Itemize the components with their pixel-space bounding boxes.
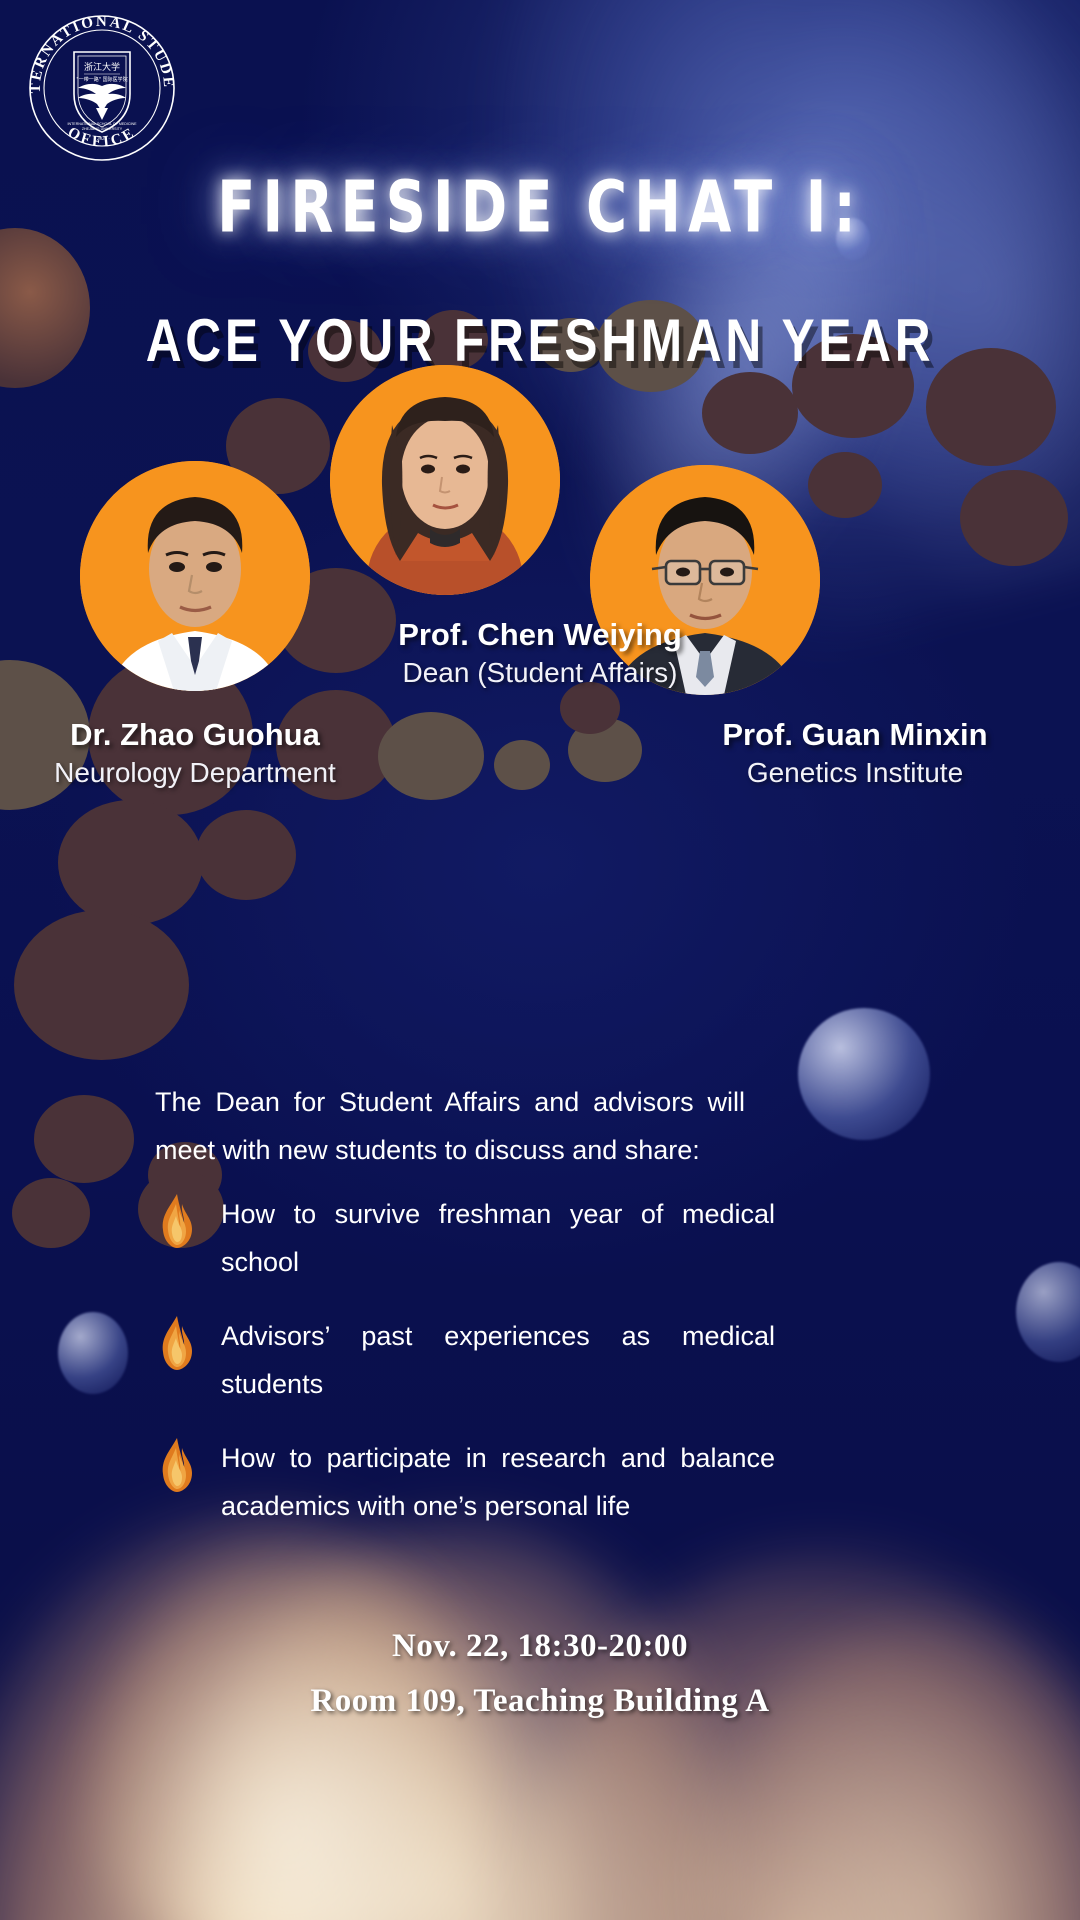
list-item-label: How to survive freshman year of medical … xyxy=(221,1190,775,1286)
flame-icon xyxy=(155,1436,199,1494)
flame-icon xyxy=(155,1314,199,1372)
agenda-bullet-list: How to survive freshman year of medical … xyxy=(155,1190,775,1556)
decorative-circle xyxy=(58,800,203,925)
decorative-circle xyxy=(34,1095,134,1183)
svg-text:ZHEJIANG UNIVERSITY: ZHEJIANG UNIVERSITY xyxy=(82,127,123,131)
intro-paragraph: The Dean for Student Affairs and advisor… xyxy=(155,1078,745,1174)
svg-text:INTERNATIONAL SCHOOL OF MEDICI: INTERNATIONAL SCHOOL OF MEDICINE xyxy=(68,122,138,126)
event-poster: INTERNATIONAL STUDENT OFFICE 浙江大学 "一带一路"… xyxy=(0,0,1080,1920)
flame-icon xyxy=(155,1192,199,1250)
speaker-name-chen-weiying: Prof. Chen Weiying xyxy=(145,617,935,653)
svg-text:"一带一路" 国际医学院: "一带一路" 国际医学院 xyxy=(76,76,127,83)
list-item: How to survive freshman year of medical … xyxy=(155,1190,775,1286)
speaker-section: Prof. Chen Weiying Dean (Student Affairs… xyxy=(0,365,1080,815)
list-item: Advisors’ past experiences as medical st… xyxy=(155,1312,775,1408)
decorative-circle xyxy=(14,910,189,1060)
speaker-role-guan-minxin: Genetics Institute xyxy=(630,757,1080,789)
glass-orb xyxy=(798,1008,930,1140)
list-item-label: How to participate in research and balan… xyxy=(221,1434,775,1530)
svg-text:浙江大学: 浙江大学 xyxy=(84,61,120,73)
event-datetime: Nov. 22, 18:30-20:00 xyxy=(0,1628,1080,1665)
speaker-photo-chen-weiying xyxy=(330,365,560,595)
list-item: How to participate in research and balan… xyxy=(155,1434,775,1530)
speaker-role-chen-weiying: Dean (Student Affairs) xyxy=(145,657,935,689)
event-details: Nov. 22, 18:30-20:00 Room 109, Teaching … xyxy=(0,1628,1080,1738)
list-item-label: Advisors’ past experiences as medical st… xyxy=(221,1312,775,1408)
decorative-circle xyxy=(196,810,296,900)
decorative-circle xyxy=(12,1178,90,1248)
svg-text:· 2020 ·: · 2020 · xyxy=(94,137,110,142)
poster-title: FIRESIDE CHAT I: xyxy=(0,166,1080,249)
event-location: Room 109, Teaching Building A xyxy=(0,1683,1080,1720)
speaker-role-zhao-guohua: Neurology Department xyxy=(0,757,390,789)
international-student-office-logo: INTERNATIONAL STUDENT OFFICE 浙江大学 "一带一路"… xyxy=(22,8,182,168)
speaker-name-zhao-guohua: Dr. Zhao Guohua xyxy=(0,717,390,753)
speaker-name-guan-minxin: Prof. Guan Minxin xyxy=(630,717,1080,753)
